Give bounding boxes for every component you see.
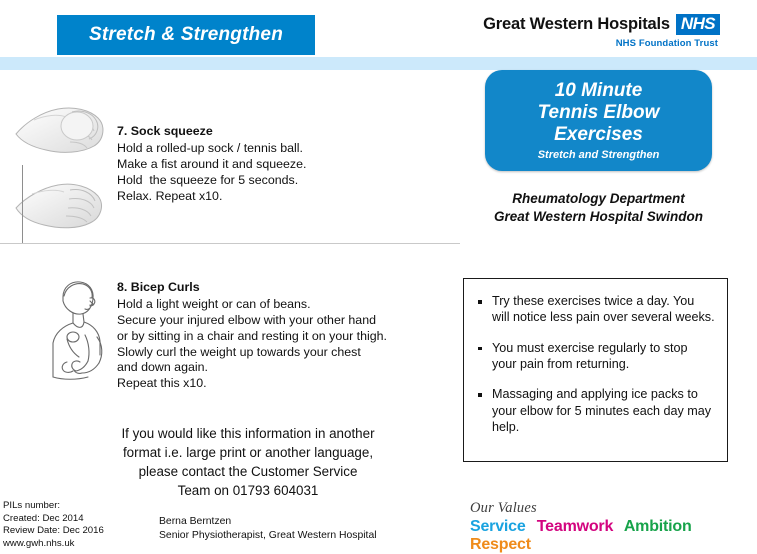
title-subtitle: Stretch and Strengthen [538, 149, 660, 161]
leaflet-page: Stretch & Strengthen Great Western Hospi… [0, 0, 757, 546]
nhs-logo: Great Western Hospitals NHS NHS Foundati… [470, 14, 720, 56]
exercise-7-line-3: Hold the squeeze for 5 seconds. [117, 173, 306, 189]
alt-format-note: If you would like this information in an… [52, 424, 444, 500]
vertical-divider [22, 165, 23, 243]
title-line-3: Exercises [554, 124, 643, 146]
our-values-row: Service Teamwork Ambition Respect [470, 518, 757, 554]
exercise-7-text: 7. Sock squeeze Hold a rolled-up sock / … [117, 124, 306, 204]
hand-squeeze-illustration [12, 96, 117, 158]
exercise-8-line-3: or by sitting in a chair and resting it … [117, 329, 387, 345]
list-item: You must exercise regularly to stop your… [474, 340, 715, 373]
exercise-7-line-4: Relax. Repeat x10. [117, 189, 306, 205]
advice-box: Try these exercises twice a day. You wil… [463, 278, 728, 462]
banner-label: Stretch & Strengthen [89, 24, 283, 46]
nhs-logo-row: Great Western Hospitals NHS [470, 14, 720, 35]
stretch-strengthen-banner: Stretch & Strengthen [57, 15, 315, 55]
section-divider [0, 243, 460, 244]
department-line-1: Rheumatology Department [465, 190, 732, 208]
exercise-7-line-2: Make a fist around it and squeeze. [117, 157, 306, 173]
exercise-8-line-6: Repeat this x10. [117, 376, 387, 392]
exercise-8-line-2: Secure your injured elbow with your othe… [117, 313, 387, 329]
department-block: Rheumatology Department Great Western Ho… [465, 190, 732, 225]
advice-list: Try these exercises twice a day. You wil… [474, 293, 715, 436]
exercise-8-text: 8. Bicep Curls Hold a light weight or ca… [117, 280, 387, 392]
our-values-title: Our Values [470, 500, 757, 517]
department-line-2: Great Western Hospital Swindon [465, 208, 732, 226]
title-card: 10 Minute Tennis Elbow Exercises Stretch… [485, 70, 712, 171]
website-link[interactable]: www.gwh.nhs.uk [3, 538, 104, 551]
value-service: Service [470, 518, 526, 535]
exercise-8-line-5: and down again. [117, 360, 387, 376]
fist-illustration [12, 172, 117, 234]
review-date: Review Date: Dec 2016 [3, 525, 104, 538]
exercise-7-line-1: Hold a rolled-up sock / tennis ball. [117, 141, 306, 157]
list-item: Massaging and applying ice packs to your… [474, 386, 715, 435]
header-blue-band [0, 57, 757, 70]
exercise-8-heading: 8. Bicep Curls [117, 280, 387, 296]
author-block: Berna Berntzen Senior Physiotherapist, G… [159, 515, 377, 542]
pils-number: PILs number: [3, 500, 104, 513]
trust-name: Great Western Hospitals [483, 15, 670, 34]
author-name: Berna Berntzen [159, 515, 377, 529]
exercise-7-heading: 7. Sock squeeze [117, 124, 306, 140]
exercise-8-line-1: Hold a light weight or can of beans. [117, 297, 387, 313]
title-line-1: 10 Minute [555, 80, 643, 102]
alt-format-line-4: Team on 01793 604031 [52, 481, 444, 500]
title-line-2: Tennis Elbow [538, 102, 660, 124]
value-teamwork: Teamwork [537, 518, 613, 535]
pils-block: PILs number: Created: Dec 2014 Review Da… [3, 500, 104, 551]
alt-format-line-3: please contact the Customer Service [52, 462, 444, 481]
alt-format-line-1: If you would like this information in an… [52, 424, 444, 443]
list-item: Try these exercises twice a day. You wil… [474, 293, 715, 326]
author-role: Senior Physiotherapist, Great Western Ho… [159, 529, 377, 543]
foundation-trust-label: NHS Foundation Trust [470, 38, 720, 49]
bicep-curl-illustration [33, 277, 117, 381]
nhs-badge-icon: NHS [676, 14, 720, 35]
value-ambition: Ambition [624, 518, 692, 535]
exercise-8-line-4: Slowly curl the weight up towards your c… [117, 345, 387, 361]
created-date: Created: Dec 2014 [3, 513, 104, 526]
value-respect: Respect [470, 536, 531, 553]
alt-format-line-2: format i.e. large print or another langu… [52, 443, 444, 462]
